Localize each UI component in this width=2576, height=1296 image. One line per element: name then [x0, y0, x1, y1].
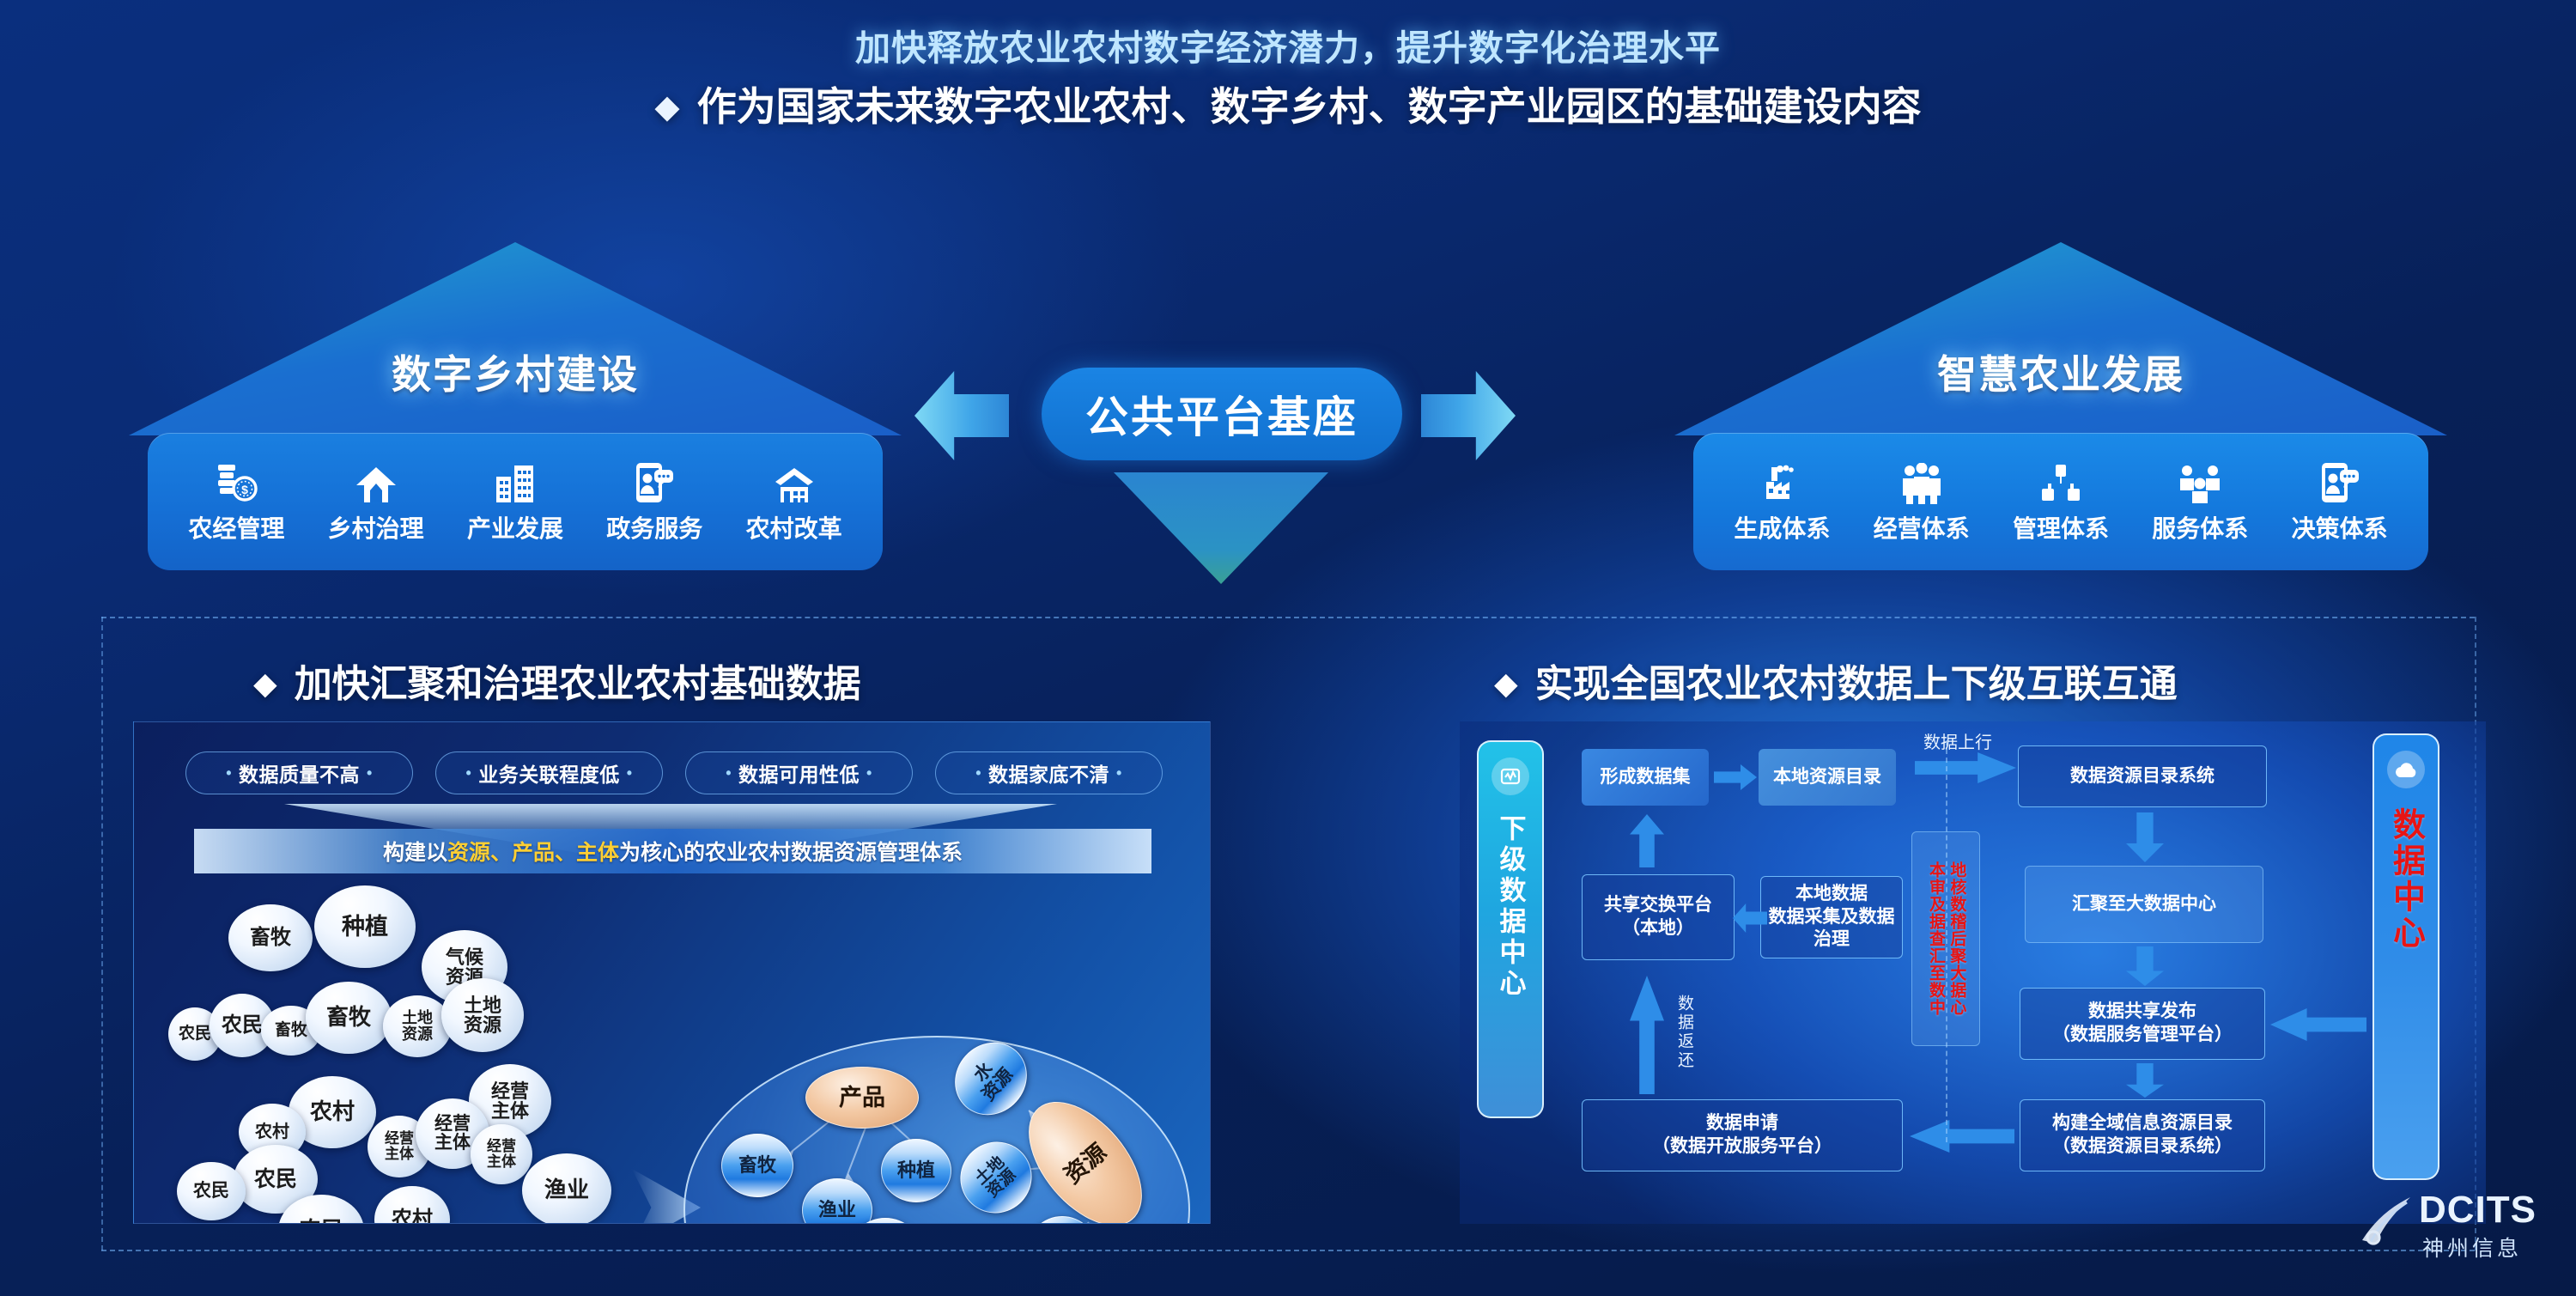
- bullet-dot-icon: •: [1116, 764, 1122, 782]
- pyramid-digital-village: 数字乡村建设 $ 农经管理 乡村治理: [129, 242, 902, 577]
- pillar-label: 农经管理: [188, 510, 284, 545]
- core-bubble-ellipse: 产品水 资源资源畜牧种植土地 资源渔业农民气候 资源主体生物 资源农村经营 主体: [683, 1036, 1190, 1224]
- diamond-bullet-icon: ◆: [253, 666, 277, 701]
- node-catalog-system[interactable]: 数据资源目录系统: [2018, 745, 2267, 807]
- pillar-label: 产业发展: [467, 510, 563, 545]
- arrow-publish-to-global: [2126, 1063, 2164, 1098]
- lower-data-center-bar[interactable]: 下级数据中心: [1477, 740, 1544, 1118]
- problem-pill-label: 数据家底不清: [988, 758, 1109, 788]
- house-icon: [355, 459, 398, 504]
- public-platform-base-label: 公共平台基座: [1085, 383, 1358, 445]
- pyramid-roof-left: [129, 242, 902, 435]
- problem-pill-label: 数据可用性低: [738, 758, 860, 788]
- divider-top: [101, 617, 2475, 618]
- pyramid-base-left: $ 农经管理 乡村治理: [148, 433, 883, 570]
- problem-pill-row: •数据质量不高••业务关联程度低••数据可用性低••数据家底不清•: [185, 751, 1163, 794]
- node-global-catalog-line2: （数据资源目录系统）: [2052, 1135, 2233, 1159]
- node-data-request[interactable]: 数据申请 （数据开放服务平台）: [1582, 1099, 1903, 1171]
- node-form-dataset[interactable]: 形成数据集: [1582, 749, 1709, 806]
- arrow-down-icon: [1114, 472, 1328, 584]
- core-system-banner-text: 构建以资源、产品、主体为核心的农业农村数据资源管理体系: [383, 836, 963, 867]
- chaos-bubble: 畜牧: [306, 982, 392, 1054]
- village-gate-icon: [773, 459, 816, 504]
- svg-text:$: $: [241, 483, 248, 496]
- node-data-publish-line2: （数据服务管理平台）: [2052, 1024, 2233, 1047]
- pillar-government-service[interactable]: 政务服务: [590, 459, 719, 545]
- chaos-bubble: 农村: [374, 1186, 450, 1224]
- factory-icon: [1761, 459, 1802, 504]
- pillar-label: 管理体系: [2013, 510, 2109, 545]
- red-note-col-right: 地核数稽后聚大据心: [1946, 861, 1966, 1016]
- pillar-label: 政务服务: [606, 510, 702, 545]
- logo-wordmark: DCITS: [2419, 1189, 2537, 1232]
- people-group-icon: [1899, 459, 1944, 504]
- mobile-service-icon: [2319, 459, 2360, 504]
- problem-pill-label: 业务关联程度低: [478, 758, 620, 788]
- logo-chinese-name: 神州信息: [2422, 1232, 2522, 1263]
- node-data-request-line1: 数据申请: [1706, 1112, 1778, 1135]
- pillar-label: 乡村治理: [328, 510, 424, 545]
- edge-label-data-upstream: 数据上行: [1923, 728, 1992, 753]
- chaos-bubble: 经营 主体: [471, 1124, 532, 1184]
- pillar-village-governance[interactable]: 乡村治理: [312, 459, 440, 545]
- red-note-col-left: 本审及据查汇至数中: [1925, 861, 1946, 1016]
- boundary-dashed-line: [1946, 740, 1947, 1142]
- chaos-bubble: 农民: [177, 1162, 246, 1220]
- bullet-dot-icon: •: [726, 764, 732, 782]
- pillar-production-system[interactable]: 生成体系: [1717, 459, 1846, 545]
- lower-data-center-label: 下级数据中心: [1492, 814, 1530, 1000]
- pyramid-title-right: 智慧农业发展: [1674, 344, 2447, 400]
- node-local-catalog[interactable]: 本地资源目录: [1759, 749, 1896, 806]
- arrow-datacenter-to-publish: [2270, 1008, 2366, 1041]
- pillar-management-system[interactable]: 管理体系: [1996, 459, 2125, 545]
- buildings-icon: [494, 459, 537, 504]
- arrow-request-to-share: [1630, 976, 1664, 1094]
- arrow-left-icon: [914, 371, 1009, 460]
- data-interconnect-board: 下级数据中心 数据中心 形成数据集 本地资源目录 共享交换平台 （本地） 本地数…: [1460, 721, 2486, 1224]
- pillar-industry-development[interactable]: 产业发展: [451, 459, 580, 545]
- mobile-service-icon: [634, 459, 675, 504]
- node-local-data-line1: 本地数据: [1795, 883, 1868, 906]
- bullet-dot-icon: •: [866, 764, 872, 782]
- pillar-label: 生成体系: [1734, 510, 1830, 545]
- pillar-decision-system[interactable]: 决策体系: [2275, 459, 2404, 545]
- chaos-bubble: 畜牧: [228, 904, 313, 971]
- pillar-agri-economy[interactable]: $ 农经管理: [172, 459, 301, 545]
- pillar-operation-system[interactable]: 经营体系: [1857, 459, 1986, 545]
- arrow-converge-to-publish: [2126, 946, 2164, 986]
- core-system-banner: 构建以资源、产品、主体为核心的农业农村数据资源管理体系: [194, 829, 1151, 873]
- node-global-catalog[interactable]: 构建全域信息资源目录 （数据资源目录系统）: [2020, 1099, 2265, 1171]
- pillar-rural-reform[interactable]: 农村改革: [730, 459, 859, 545]
- node-share-exchange-platform[interactable]: 共享交换平台 （本地）: [1582, 874, 1735, 960]
- chaos-bubble: 土地 资源: [441, 978, 524, 1052]
- section-heading-left-text: 加快汇聚和治理农业农村基础数据: [295, 663, 861, 705]
- pyramid-smart-agriculture: 智慧农业发展 生成体系 经营体系: [1674, 242, 2447, 577]
- node-global-catalog-line1: 构建全域信息资源目录: [2052, 1112, 2233, 1135]
- pillar-label: 服务体系: [2152, 510, 2248, 545]
- pillar-label: 农村改革: [746, 510, 842, 545]
- node-data-request-line2: （数据开放服务平台）: [1652, 1135, 1832, 1159]
- page-title: 加快释放农业农村数字经济潜力，提升数字化治理水平: [0, 19, 2576, 70]
- bullet-dot-icon: •: [627, 764, 633, 782]
- chaos-bubble: 渔业: [522, 1153, 611, 1224]
- public-platform-base[interactable]: 公共平台基座: [1042, 368, 1402, 460]
- pyramid-base-right: 生成体系 经营体系 管理体系: [1693, 433, 2428, 570]
- bullet-dot-icon: •: [367, 764, 373, 782]
- section-heading-right: ◆实现全国农业农村数据上下级互联互通: [1494, 653, 2178, 708]
- chaos-bubble: 种植: [314, 885, 416, 968]
- diamond-bullet-icon: ◆: [1494, 666, 1518, 701]
- org-chart-icon: [2040, 459, 2081, 504]
- page-subtitle: ◆作为国家未来数字农业农村、数字乡村、数字产业园区的基础建设内容: [0, 76, 2576, 132]
- node-local-data-collection[interactable]: 本地数据 数据采集及数据治理: [1760, 876, 1903, 958]
- bullet-dot-icon: •: [465, 764, 471, 782]
- node-local-data-line2: 数据采集及数据治理: [1768, 906, 1895, 952]
- pyramid-roof-right: [1674, 242, 2447, 435]
- problem-pill[interactable]: •数据质量不高•: [185, 751, 413, 794]
- node-share-exchange-platform-line2: （本地）: [1622, 917, 1694, 940]
- data-center-bar[interactable]: 数据中心: [2372, 733, 2439, 1180]
- money-stack-icon: $: [214, 459, 258, 504]
- arrow-data-upstream: [1915, 752, 2016, 783]
- pulse-icon: [1492, 758, 1529, 795]
- cloud-icon: [2387, 751, 2425, 788]
- arrow-catalog-to-converge: [2126, 812, 2164, 862]
- problem-pill[interactable]: •业务关联程度低•: [435, 751, 663, 794]
- dcits-mark-icon: [2357, 1190, 2417, 1247]
- section-heading-left: ◆加快汇聚和治理农业农村基础数据: [253, 653, 861, 708]
- core-bubble: 产品: [805, 1067, 919, 1129]
- chaos-bubble: 土地 资源: [383, 995, 452, 1057]
- node-data-publish-line1: 数据共享发布: [2088, 1001, 2196, 1024]
- banner-suffix: 为核心的农业农村数据资源管理体系: [619, 841, 963, 865]
- node-share-exchange-platform-line1: 共享交换平台: [1604, 894, 1712, 917]
- arrow-global-to-request: [1910, 1120, 2014, 1153]
- node-converge-big-data-center[interactable]: 汇聚至大数据中心: [2025, 866, 2263, 943]
- problem-pill[interactable]: •数据可用性低•: [685, 751, 913, 794]
- problem-pill[interactable]: •数据家底不清•: [935, 751, 1163, 794]
- bullet-dot-icon: •: [975, 764, 981, 782]
- node-data-publish[interactable]: 数据共享发布 （数据服务管理平台）: [2020, 988, 2265, 1060]
- page-subtitle-text: 作为国家未来数字农业农村、数字乡村、数字产业园区的基础建设内容: [697, 84, 1922, 129]
- pillar-service-system[interactable]: 服务体系: [2136, 459, 2264, 545]
- divider-bottom: [101, 1250, 2475, 1251]
- company-logo: DCITS 神州信息: [2357, 1183, 2559, 1278]
- bubble-cloud-area: 畜牧种植气候 资源农民农民畜牧畜牧土地 资源土地 资源经营 主体农村农村经营 主…: [134, 885, 1210, 1224]
- core-bubble: 种植: [881, 1139, 951, 1202]
- people-service-icon: [2178, 459, 2221, 504]
- banner-highlight: 资源、产品、主体: [447, 841, 619, 865]
- pillar-label: 经营体系: [1874, 510, 1970, 545]
- pillar-label: 决策体系: [2292, 510, 2388, 545]
- arrow-share-to-dataset: [1630, 814, 1664, 867]
- problem-pill-label: 数据质量不高: [239, 758, 360, 788]
- divider-left: [101, 617, 103, 1250]
- data-governance-board: •数据质量不高••业务关联程度低••数据可用性低••数据家底不清• 构建以资源、…: [133, 721, 1211, 1224]
- data-center-label: 数据中心: [2383, 807, 2430, 952]
- bullet-dot-icon: •: [226, 764, 232, 782]
- banner-prefix: 构建以: [383, 841, 447, 865]
- arrow-dataset-to-catalog: [1714, 764, 1757, 790]
- core-bubble: 畜牧: [721, 1134, 793, 1197]
- diamond-bullet-icon: ◆: [654, 89, 679, 125]
- arrow-right-icon: [1421, 371, 1516, 460]
- pyramid-title-left: 数字乡村建设: [129, 344, 902, 400]
- section-heading-right-text: 实现全国农业农村数据上下级互联互通: [1535, 663, 2178, 705]
- edge-label-data-return: 数据返还: [1673, 995, 1696, 1070]
